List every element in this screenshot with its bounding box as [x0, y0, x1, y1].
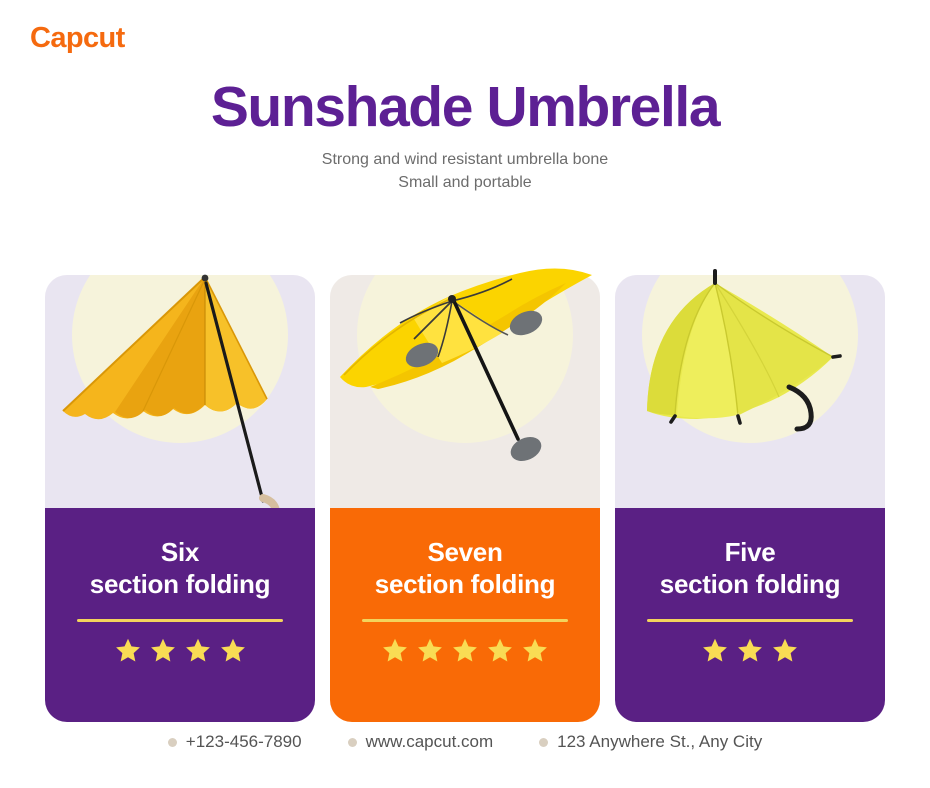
footer-phone[interactable]: +123-456-7890: [168, 732, 302, 752]
product-card[interactable]: all-weather umbrella Six section folding: [45, 275, 315, 722]
star-icon: [382, 637, 408, 663]
card-media-panel: [615, 275, 885, 508]
card-media-panel: [330, 275, 600, 508]
star-icon: [702, 637, 728, 663]
subtitle-line-1: Strong and wind resistant umbrella bone: [0, 149, 930, 172]
brand-logo: Capcut: [30, 22, 125, 55]
rating-stars: [382, 637, 548, 663]
star-icon: [417, 637, 443, 663]
card-detail-panel: Six section folding: [45, 508, 315, 722]
bullet-dot-icon: [348, 738, 357, 747]
card-title: Six section folding: [45, 536, 315, 600]
contact-footer: +123-456-7890 www.capcut.com 123 Anywher…: [0, 732, 930, 752]
card-title: Five section folding: [615, 536, 885, 600]
star-icon: [115, 637, 141, 663]
subtitle-line-2: Small and portable: [0, 172, 930, 195]
product-card[interactable]: all-weather umbrella Seven section foldi…: [330, 275, 600, 722]
star-icon: [487, 637, 513, 663]
card-detail-panel: Five section folding: [615, 508, 885, 722]
card-divider: [77, 619, 283, 622]
star-icon: [737, 637, 763, 663]
footer-address[interactable]: 123 Anywhere St., Any City: [539, 732, 762, 752]
star-icon: [522, 637, 548, 663]
product-card-list: all-weather umbrella Six section folding: [45, 275, 885, 722]
footer-website[interactable]: www.capcut.com: [348, 732, 494, 752]
page-subtitle: Strong and wind resistant umbrella bone …: [0, 149, 930, 194]
star-icon: [150, 637, 176, 663]
bullet-dot-icon: [168, 738, 177, 747]
card-divider: [362, 619, 568, 622]
poster-canvas: Capcut Sunshade Umbrella Strong and wind…: [0, 0, 930, 788]
rating-stars: [702, 637, 798, 663]
bullet-dot-icon: [539, 738, 548, 747]
card-title: Seven section folding: [330, 536, 600, 600]
star-icon: [772, 637, 798, 663]
rating-stars: [115, 637, 246, 663]
page-title: Sunshade Umbrella: [0, 76, 930, 140]
footer-website-text: www.capcut.com: [366, 732, 494, 752]
footer-address-text: 123 Anywhere St., Any City: [557, 732, 762, 752]
star-icon: [452, 637, 478, 663]
star-icon: [185, 637, 211, 663]
card-media-panel: [45, 275, 315, 508]
card-detail-panel: Seven section folding: [330, 508, 600, 722]
card-divider: [647, 619, 853, 622]
product-card[interactable]: umbrella Five section folding: [615, 275, 885, 722]
page-header: Sunshade Umbrella Strong and wind resist…: [0, 76, 930, 194]
footer-phone-text: +123-456-7890: [186, 732, 302, 752]
star-icon: [220, 637, 246, 663]
